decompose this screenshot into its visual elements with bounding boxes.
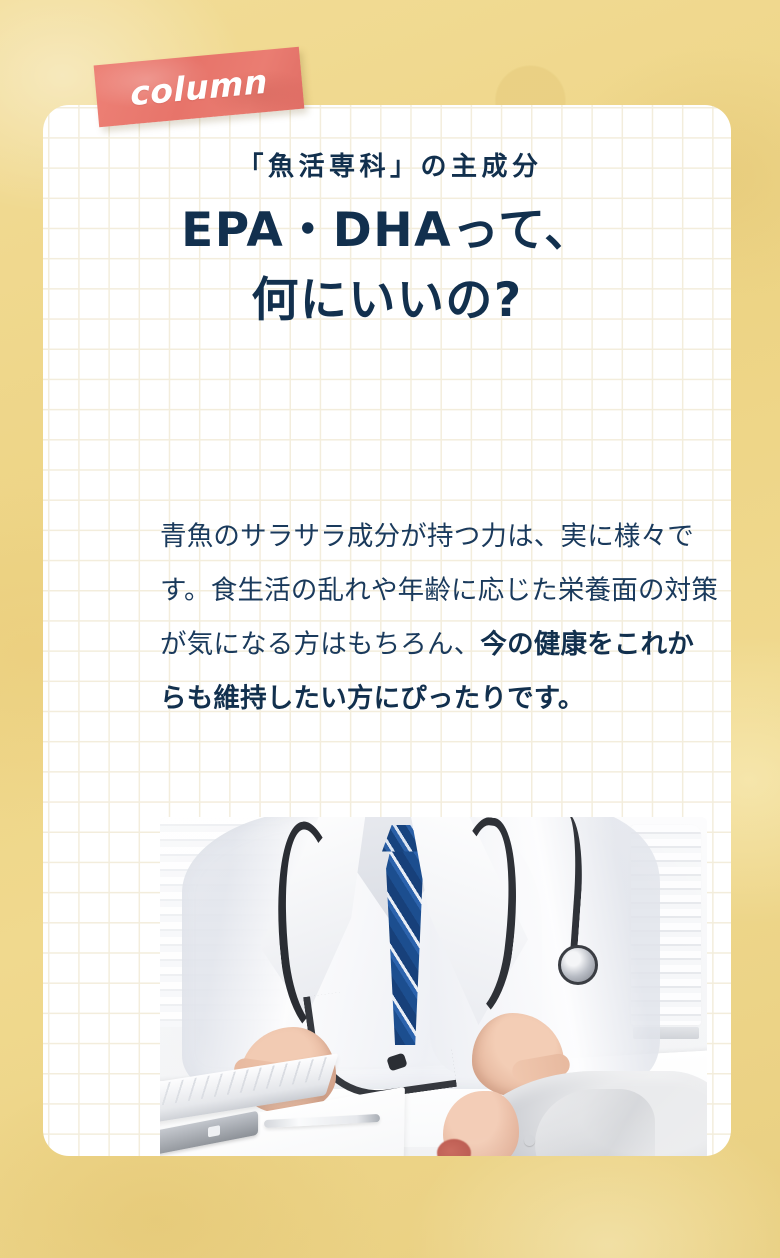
column-tag-label: column (130, 61, 269, 113)
photo-vignette (160, 817, 707, 1156)
heading-line-2-text: 何にいいの? (251, 273, 522, 328)
column-card: 「魚活専科」の主成分 EPA・DHAって、 何にいいの? 青魚のサラサラ成分が持… (43, 105, 731, 1156)
heading-line-2: 何にいいの? (251, 277, 522, 324)
heading-line-2-wrapper: 何にいいの? (43, 254, 731, 324)
heading-kicker: 「魚活専科」の主成分 (43, 152, 731, 183)
heading-line-1: EPA・DHAって、 (181, 207, 593, 254)
heading-line-1-text: EPA・DHAって、 (181, 203, 593, 258)
heading-block: 「魚活専科」の主成分 EPA・DHAって、 何にいいの? (43, 152, 731, 324)
doctor-consultation-photo (160, 817, 707, 1156)
body-paragraph: 青魚のサラサラ成分が持つ力は、実に様々です。食生活の乱れや年齢に応じた栄養面の対… (160, 510, 720, 726)
heading-line-1-wrapper: EPA・DHAって、 (43, 183, 731, 254)
